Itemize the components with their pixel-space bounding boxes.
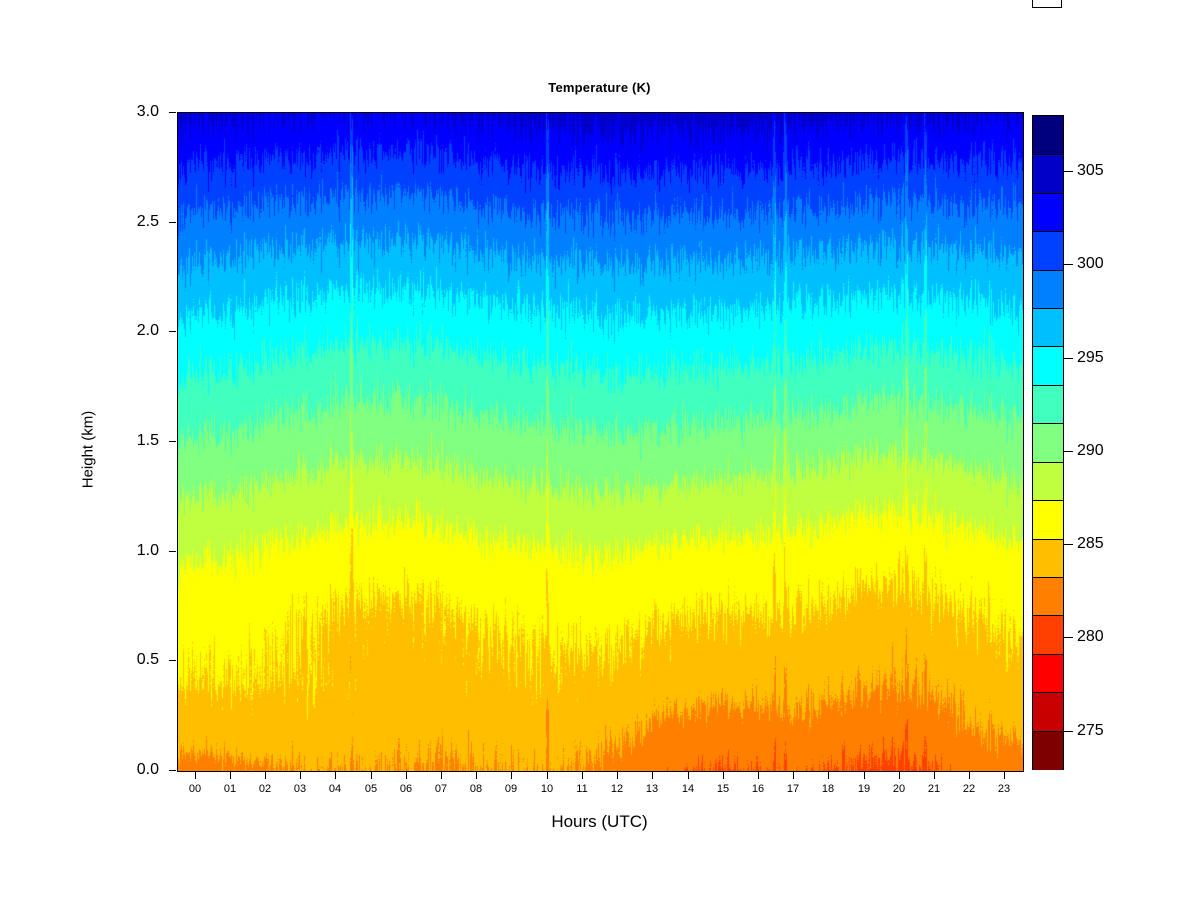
x-axis-tick <box>969 772 970 779</box>
colorbar-band <box>1033 116 1063 155</box>
x-axis-tick <box>899 772 900 779</box>
x-axis-tick-label: 05 <box>351 783 391 795</box>
x-axis-tick-label: 13 <box>632 783 672 795</box>
x-axis-tick-label: 10 <box>527 783 567 795</box>
x-axis-tick <box>828 772 829 779</box>
colorbar-band <box>1033 346 1063 385</box>
y-axis-tick <box>169 112 176 113</box>
x-axis-tick-label: 06 <box>386 783 426 795</box>
colorbar-band <box>1033 193 1063 232</box>
colorbar-band <box>1033 500 1063 539</box>
colorbar-tick <box>1064 358 1073 359</box>
y-axis-tick <box>169 222 176 223</box>
y-axis-tick-label: 1.5 <box>99 432 159 450</box>
colorbar-tick-label: 285 <box>1077 535 1104 553</box>
colorbar-tick-label: 275 <box>1077 722 1104 740</box>
y-axis-tick-label: 0.0 <box>99 761 159 779</box>
x-axis-tick-label: 21 <box>914 783 954 795</box>
colorbar-tick-label: 290 <box>1077 442 1104 460</box>
x-axis-tick <box>934 772 935 779</box>
x-axis-tick-label: 16 <box>738 783 778 795</box>
x-axis-tick <box>265 772 266 779</box>
x-axis-tick <box>335 772 336 779</box>
x-axis-tick-label: 04 <box>315 783 355 795</box>
colorbar-top-frame-fragment <box>1032 0 1062 8</box>
x-axis-tick <box>406 772 407 779</box>
colorbar-band <box>1033 539 1063 578</box>
colorbar-tick-label: 280 <box>1077 628 1104 646</box>
x-axis-tick-label: 15 <box>703 783 743 795</box>
y-axis-title: Height (km) <box>80 350 97 550</box>
y-axis-tick-label: 1.0 <box>99 542 159 560</box>
colorbar-tick <box>1064 451 1073 452</box>
page-title: Temperature (K) <box>177 80 1022 95</box>
x-axis-tick-label: 12 <box>597 783 637 795</box>
y-axis-tick-label: 3.0 <box>99 103 159 121</box>
colorbar-band <box>1033 423 1063 462</box>
x-axis-tick <box>1004 772 1005 779</box>
x-axis-tick-label: 01 <box>210 783 250 795</box>
colorbar-band <box>1033 385 1063 424</box>
colorbar-band <box>1033 615 1063 654</box>
x-axis-tick <box>652 772 653 779</box>
colorbar-band <box>1033 231 1063 270</box>
x-axis-tick <box>230 772 231 779</box>
x-axis-tick <box>582 772 583 779</box>
y-axis-tick <box>169 660 176 661</box>
x-axis-tick-label: 14 <box>668 783 708 795</box>
x-axis-tick-label: 18 <box>808 783 848 795</box>
x-axis-tick <box>688 772 689 779</box>
x-axis-tick-label: 17 <box>773 783 813 795</box>
y-axis-tick-label: 2.0 <box>99 322 159 340</box>
colorbar-tick <box>1064 544 1073 545</box>
colorbar-band <box>1033 577 1063 616</box>
x-axis-tick-label: 23 <box>984 783 1024 795</box>
x-axis-tick <box>195 772 196 779</box>
x-axis-tick <box>371 772 372 779</box>
y-axis-tick <box>169 441 176 442</box>
x-axis-tick-label: 07 <box>421 783 461 795</box>
x-axis-tick-label: 08 <box>456 783 496 795</box>
y-axis-tick <box>169 770 176 771</box>
x-axis-tick <box>864 772 865 779</box>
colorbar-tick-label: 300 <box>1077 255 1104 273</box>
x-axis-tick <box>793 772 794 779</box>
y-axis-tick-label: 0.5 <box>99 651 159 669</box>
y-axis-tick-label: 2.5 <box>99 213 159 231</box>
x-axis-tick <box>723 772 724 779</box>
colorbar-tick <box>1064 731 1073 732</box>
x-axis-tick <box>547 772 548 779</box>
x-axis-tick <box>441 772 442 779</box>
colorbar-tick <box>1064 171 1073 172</box>
x-axis-tick <box>758 772 759 779</box>
x-axis-tick-label: 03 <box>280 783 320 795</box>
colorbar-band <box>1033 692 1063 731</box>
heatmap-plot-area <box>177 112 1024 772</box>
x-axis-tick-label: 11 <box>562 783 602 795</box>
x-axis-tick-label: 02 <box>245 783 285 795</box>
temperature-heatmap <box>178 113 1023 771</box>
colorbar-band <box>1033 654 1063 693</box>
x-axis-tick-label: 20 <box>879 783 919 795</box>
temperature-time-height-figure: Temperature (K) 0.00.51.01.52.02.53.0 00… <box>0 0 1200 900</box>
colorbar-tick <box>1064 264 1073 265</box>
x-axis-title: Hours (UTC) <box>177 812 1022 832</box>
colorbar <box>1032 115 1064 770</box>
y-axis-tick <box>169 551 176 552</box>
y-axis-tick <box>169 331 176 332</box>
colorbar-band <box>1033 731 1063 770</box>
x-axis-tick-label: 09 <box>491 783 531 795</box>
x-axis-tick <box>617 772 618 779</box>
colorbar-band <box>1033 154 1063 193</box>
colorbar-band <box>1033 270 1063 309</box>
x-axis-tick-label: 19 <box>844 783 884 795</box>
x-axis-tick <box>476 772 477 779</box>
colorbar-band <box>1033 308 1063 347</box>
x-axis-tick <box>300 772 301 779</box>
colorbar-tick-label: 305 <box>1077 162 1104 180</box>
x-axis-tick <box>511 772 512 779</box>
colorbar-tick <box>1064 637 1073 638</box>
x-axis-tick-label: 00 <box>175 783 215 795</box>
colorbar-tick-label: 295 <box>1077 349 1104 367</box>
colorbar-band <box>1033 462 1063 501</box>
x-axis-tick-label: 22 <box>949 783 989 795</box>
